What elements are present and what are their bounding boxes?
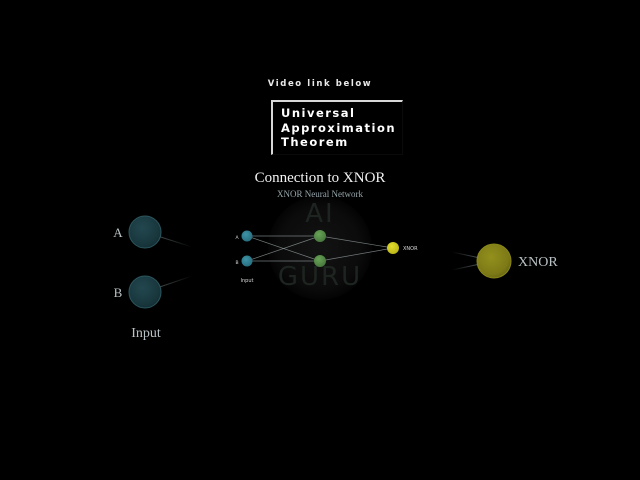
output-node-xnor[interactable]	[477, 244, 511, 278]
output-layer-closeup: XNOR	[0, 0, 640, 480]
slide-canvas: AI GURU Video link below Universal Appro…	[0, 0, 640, 480]
output-node-xnor-label: XNOR	[518, 255, 558, 270]
